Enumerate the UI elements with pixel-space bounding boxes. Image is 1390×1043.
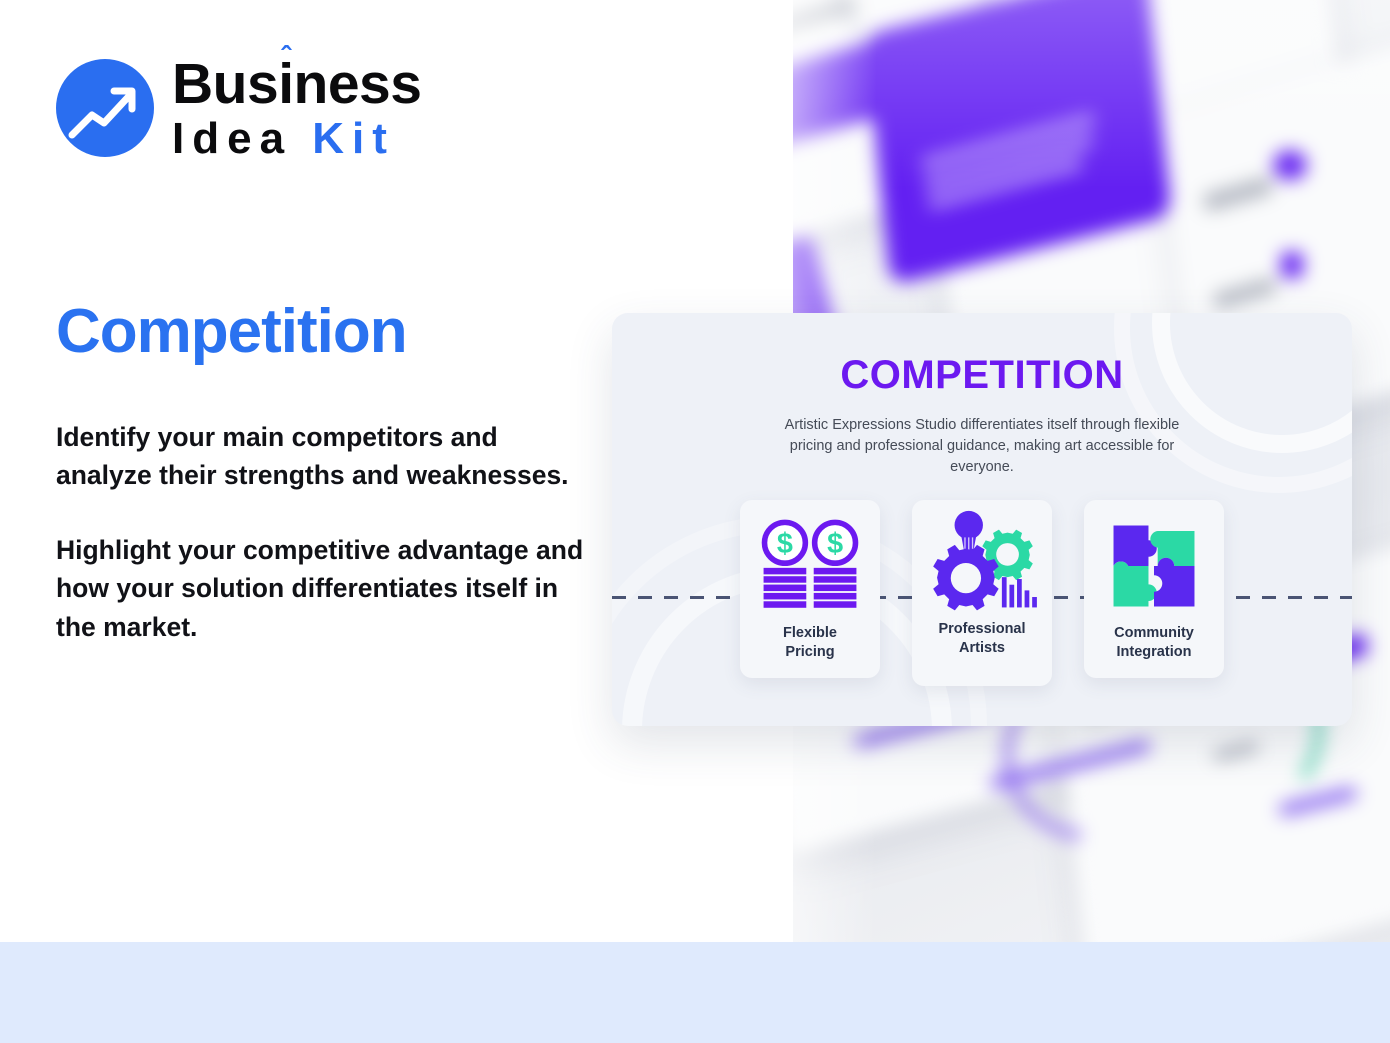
- bottom-accent-band: [0, 942, 1390, 1043]
- brand-circumflex-accent: iˆ: [278, 52, 293, 116]
- svg-text:$: $: [827, 528, 843, 560]
- background-accent-dot: [1273, 150, 1307, 180]
- competition-card: COMPETITION Artistic Expressions Studio …: [612, 313, 1352, 726]
- svg-text:$: $: [777, 528, 793, 560]
- growth-arrow-chart-icon: [56, 59, 154, 157]
- brand-name-line2: Idea Kit: [172, 117, 421, 161]
- body-paragraph: Highlight your competitive advantage and…: [56, 531, 586, 646]
- background-accent-dot: [1281, 252, 1303, 278]
- brand-name-line1: Busiˆness: [172, 56, 421, 113]
- brand-name-kit: Kit: [312, 114, 395, 163]
- feature-label: Professional Artists: [938, 620, 1025, 658]
- brand-name-idea: Idea: [172, 114, 292, 163]
- feature-card-flexible-pricing[interactable]: $ $: [740, 500, 880, 678]
- feature-label: Flexible Pricing: [783, 624, 837, 662]
- page-title: Competition: [56, 296, 407, 367]
- body-paragraph: Identify your main competitors and analy…: [56, 418, 586, 495]
- brand-wordmark: Busiˆness Idea Kit: [172, 54, 421, 161]
- card-title: COMPETITION: [612, 353, 1352, 398]
- page-body-copy: Identify your main competitors and analy…: [56, 418, 586, 646]
- brand-logo: Busiˆness Idea Kit: [56, 54, 421, 161]
- puzzle-pieces-icon: [1108, 514, 1200, 618]
- feature-label: Community Integration: [1114, 624, 1194, 662]
- feature-row: $ $: [612, 500, 1352, 686]
- slide-canvas: Busiˆness Idea Kit Competition Identify …: [0, 0, 1390, 1043]
- coin-stacks-icon: $ $: [758, 514, 862, 618]
- gears-lightbulb-chart-icon: [926, 510, 1038, 614]
- feature-card-professional-artists[interactable]: Professional Artists: [912, 500, 1052, 686]
- feature-card-community-integration[interactable]: Community Integration: [1084, 500, 1224, 678]
- card-subtitle: Artistic Expressions Studio differentiat…: [782, 415, 1182, 478]
